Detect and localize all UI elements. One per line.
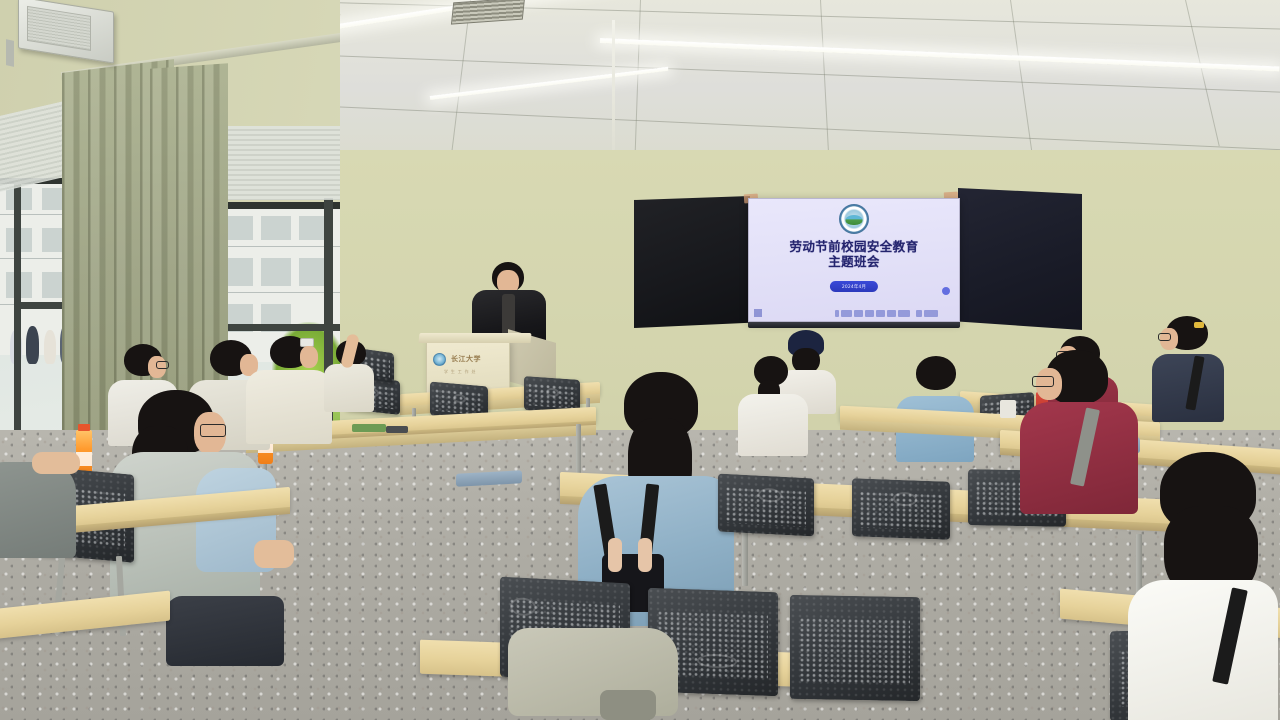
university-emblem-icon xyxy=(839,204,869,234)
glasses-icon xyxy=(156,361,169,369)
podium-subtitle: 学 生 工 作 处 xyxy=(444,369,476,375)
phone-prop xyxy=(386,426,408,433)
student-ponytail xyxy=(738,356,808,452)
student-far-right xyxy=(1152,316,1224,416)
student-bottom-left-partial xyxy=(0,432,90,552)
podium-seal-icon xyxy=(433,353,446,366)
outdoor-person xyxy=(44,330,56,364)
window-mullion xyxy=(215,324,340,331)
bag-handle-2 xyxy=(638,538,652,572)
notebook-prop xyxy=(352,424,386,432)
slide-date-badge: 2024年4月 xyxy=(830,281,878,292)
slide-footer-logos xyxy=(835,310,938,317)
chair-perforation xyxy=(800,618,909,684)
window-frame xyxy=(215,202,340,209)
draped-jacket-fold xyxy=(600,690,656,720)
student-trousers xyxy=(166,596,284,666)
glasses-icon xyxy=(1158,333,1171,341)
hair-clip-icon xyxy=(1194,322,1204,328)
classroom-scene: 劳动节前校园安全教育 主题班会 2024年4月 xyxy=(0,0,1280,720)
student-top xyxy=(324,364,374,412)
student-hair xyxy=(916,356,956,390)
glasses-icon xyxy=(200,424,226,437)
bag-handle xyxy=(608,538,622,572)
slide-corner-mark xyxy=(754,309,762,317)
student-top xyxy=(0,462,76,558)
chair-center-c xyxy=(790,595,920,701)
chair-center-row-a xyxy=(718,473,814,536)
outdoor-person xyxy=(26,326,39,364)
blackboard-left-panel xyxy=(634,196,750,328)
student-raised-arm xyxy=(318,332,374,408)
projector-drop-cable xyxy=(612,20,615,168)
speaker-mount-arm xyxy=(6,39,14,67)
student-white-top xyxy=(1128,580,1278,720)
student-hand xyxy=(32,452,80,474)
chair-handle xyxy=(893,491,917,506)
projection-screen: 劳动节前校园安全教育 主题班会 2024年4月 xyxy=(748,198,960,322)
screen-bottom-bar xyxy=(748,322,960,328)
student-blue-knit xyxy=(896,356,974,456)
slide-title-line2: 主题班会 xyxy=(749,254,959,269)
student-hand xyxy=(254,540,294,568)
podium-top-surface xyxy=(418,333,531,343)
slide-accent-dot xyxy=(942,287,950,295)
slide-title: 劳动节前校园安全教育 主题班会 xyxy=(749,239,959,269)
glasses-icon xyxy=(1032,376,1054,387)
podium-university-name: 长江大学 xyxy=(451,354,481,364)
cup-prop xyxy=(1000,400,1016,418)
bottle-cap xyxy=(78,424,90,431)
slide-title-line1: 劳动节前校园安全教育 xyxy=(789,239,918,254)
speaker-grill xyxy=(27,6,91,51)
student-maroon xyxy=(1020,350,1140,510)
blackboard-right-panel xyxy=(958,188,1082,330)
student-right-foreground xyxy=(1128,452,1278,720)
student-top xyxy=(738,394,808,456)
window-transom-blind-right xyxy=(216,126,340,200)
student-face xyxy=(300,346,318,368)
chair-center-row-b xyxy=(852,478,950,539)
